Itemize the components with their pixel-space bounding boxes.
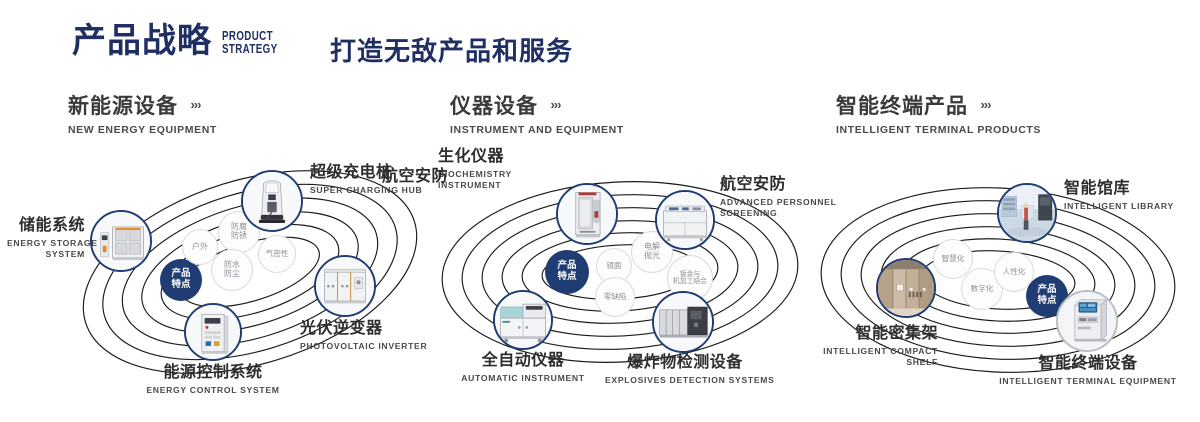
- caption-en-line1: INTELLIGENT LIBRARY: [1064, 201, 1174, 212]
- caption-energy-control-system: 能源控制系统 ENERGY CONTROL SYSTEM: [133, 365, 293, 396]
- center-bubble-product-features: 产品 特点: [545, 250, 589, 294]
- feature-bubble-zero-defect: 零缺陷: [595, 277, 635, 317]
- node-intelligent-compact-shelf[interactable]: [876, 258, 936, 318]
- caption-en-line1: AUTOMATIC INSTRUMENT: [440, 373, 606, 384]
- node-advanced-personnel-screening[interactable]: [655, 190, 715, 250]
- compact-shelf-icon: [878, 260, 934, 316]
- chevron-right-icon: ›››: [550, 97, 560, 112]
- caption-en-line2: SHELF: [778, 357, 938, 368]
- feature-bubble-line2: 机加工结合: [673, 278, 707, 285]
- node-intelligent-library[interactable]: [997, 183, 1057, 243]
- caption-cn: 生化仪器: [438, 149, 512, 166]
- feature-bubble-line1: 气密性: [266, 250, 289, 258]
- feature-bubble-line1: 人性化: [1003, 268, 1026, 276]
- feature-bubble-line1: 钣金与: [673, 271, 707, 278]
- library-room-icon: [999, 185, 1055, 241]
- caption-en-line2: INSTRUMENT: [438, 180, 512, 191]
- feature-bubble-airtightness: 气密性: [258, 235, 296, 273]
- caption-en-line1: ENERGY STORAGE: [7, 238, 85, 249]
- cluster-intelligent-terminal: 智慧化 数字化 人性化 产品 特点: [800, 160, 1200, 400]
- feature-bubble-line1: 数字化: [971, 285, 994, 293]
- caption-cn: 智能密集架: [778, 326, 938, 343]
- inverter-cabinet-icon: [316, 257, 374, 315]
- caption-cn: 光伏逆变器: [300, 321, 427, 338]
- battery-cabinet-icon: [92, 212, 150, 270]
- chevron-right-icon: ›››: [190, 97, 200, 112]
- automatic-analyzer-icon: [495, 292, 551, 348]
- section-title-cn: 仪器设备: [450, 96, 538, 117]
- node-super-charging-hub[interactable]: [241, 170, 303, 232]
- node-photovoltaic-inverter[interactable]: [314, 255, 376, 317]
- node-intelligent-terminal-equipment[interactable]: [1056, 290, 1118, 352]
- caption-en-line2: SYSTEM: [7, 249, 85, 260]
- page-title: 产品战略: [72, 24, 212, 58]
- center-bubble-line2: 特点: [171, 280, 190, 291]
- caption-cn: 储能系统: [7, 218, 85, 235]
- caption-cn: 智能馆库: [1064, 181, 1174, 198]
- caption-cn: 全自动仪器: [440, 353, 606, 370]
- feature-bubble-waterproof: 防水 防尘: [211, 249, 253, 291]
- node-energy-storage-system[interactable]: [90, 210, 152, 272]
- caption-biochemistry-instrument: 生化仪器 BIOCHEMISTRY INSTRUMENT: [438, 149, 512, 190]
- poster-header: 产品战略 PRODUCT STRATEGY: [72, 24, 293, 58]
- explosive-detector-icon: [654, 293, 712, 351]
- feature-bubble-line1: 户外: [192, 243, 208, 252]
- caption-explosives-detection-systems: 爆炸物检测设备 EXPLOSIVES DETECTION SYSTEMS: [605, 355, 765, 386]
- caption-automatic-instrument: 全自动仪器 AUTOMATIC INSTRUMENT: [440, 353, 606, 384]
- self-service-kiosk-icon: [1058, 292, 1116, 350]
- caption-intelligent-terminal-equipment: 智能终端设备 INTELLIGENT TERMINAL EQUIPMENT: [998, 356, 1178, 387]
- biochemistry-scanner-icon: [558, 185, 616, 243]
- control-cabinet-icon: [186, 305, 240, 359]
- feature-bubble-line2: 抛光: [644, 252, 660, 261]
- section-title-instrument: 仪器设备 ››› INSTRUMENT AND EQUIPMENT: [450, 96, 624, 136]
- caption-energy-storage-system: 储能系统 ENERGY STORAGE SYSTEM: [7, 218, 85, 259]
- section-title-cn: 新能源设备: [68, 96, 178, 117]
- node-energy-control-system[interactable]: [184, 303, 242, 361]
- cluster-instrument: 产品 特点 镜面 电解 抛光 钣金与 机加工结合 零缺陷: [420, 155, 820, 390]
- feature-bubble-line1: 智慧化: [942, 255, 965, 263]
- caption-photovoltaic-inverter: 光伏逆变器 PHOTOVOLTAIC INVERTER: [300, 321, 427, 352]
- feature-bubble-line2: 防尘: [224, 270, 240, 279]
- section-title-en: INSTRUMENT AND EQUIPMENT: [450, 124, 624, 136]
- page-slogan: 打造无敌产品和服务: [330, 38, 573, 64]
- cluster-new-energy: 产品 特点 户外 防腐 防锈 防水 防尘 气密性: [55, 155, 445, 390]
- feature-bubble-line1: 零缺陷: [604, 293, 627, 301]
- caption-en-line1: ENERGY CONTROL SYSTEM: [133, 385, 293, 396]
- screening-machine-icon: [657, 192, 713, 248]
- caption-intelligent-compact-shelf: 智能密集架 INTELLIGENT COMPACT SHELF: [778, 326, 938, 367]
- caption-cn: 爆炸物检测设备: [605, 355, 765, 372]
- section-title-en: NEW ENERGY EQUIPMENT: [68, 124, 217, 136]
- section-title-en: INTELLIGENT TERMINAL PRODUCTS: [836, 124, 1041, 136]
- center-bubble-line2: 特点: [1037, 296, 1056, 307]
- charging-pile-icon: [243, 172, 301, 230]
- section-title-intelligent-terminal: 智能终端产品 ››› INTELLIGENT TERMINAL PRODUCTS: [836, 96, 1041, 136]
- center-bubble-product-features: 产品 特点: [160, 259, 202, 301]
- node-automatic-instrument[interactable]: [493, 290, 553, 350]
- page-title-english: PRODUCT STRATEGY: [222, 30, 277, 56]
- caption-intelligent-library: 智能馆库 INTELLIGENT LIBRARY: [1064, 181, 1174, 212]
- caption-en-line1: EXPLOSIVES DETECTION SYSTEMS: [605, 375, 765, 386]
- feature-bubble-line2: 防锈: [231, 232, 247, 241]
- caption-en-line1: PHOTOVOLTAIC INVERTER: [300, 341, 427, 352]
- caption-en-line1: SUPER CHARGING HUB: [310, 185, 422, 196]
- page-title-english-line2: STRATEGY: [222, 43, 277, 56]
- caption-cn: 智能终端设备: [998, 356, 1178, 373]
- section-title-new-energy: 新能源设备 ››› NEW ENERGY EQUIPMENT: [68, 96, 217, 136]
- caption-cn: 航空安防: [358, 169, 448, 186]
- caption-cn: 能源控制系统: [133, 365, 293, 382]
- center-bubble-line2: 特点: [557, 272, 576, 283]
- node-explosives-detection-systems[interactable]: [652, 291, 714, 353]
- caption-aviation-security-extra: 航空安防: [358, 169, 448, 186]
- caption-en-line1: INTELLIGENT TERMINAL EQUIPMENT: [998, 376, 1178, 387]
- poster-canvas: 产品战略 PRODUCT STRATEGY 打造无敌产品和服务 新能源设备 ››…: [0, 0, 1200, 422]
- node-biochemistry-instrument[interactable]: [556, 183, 618, 245]
- caption-en-line1: BIOCHEMISTRY: [438, 169, 512, 180]
- caption-en-line1: INTELLIGENT COMPACT: [778, 346, 938, 357]
- feature-bubble-line1: 镜面: [606, 262, 621, 270]
- section-title-cn: 智能终端产品: [836, 96, 968, 117]
- chevron-right-icon: ›››: [980, 97, 990, 112]
